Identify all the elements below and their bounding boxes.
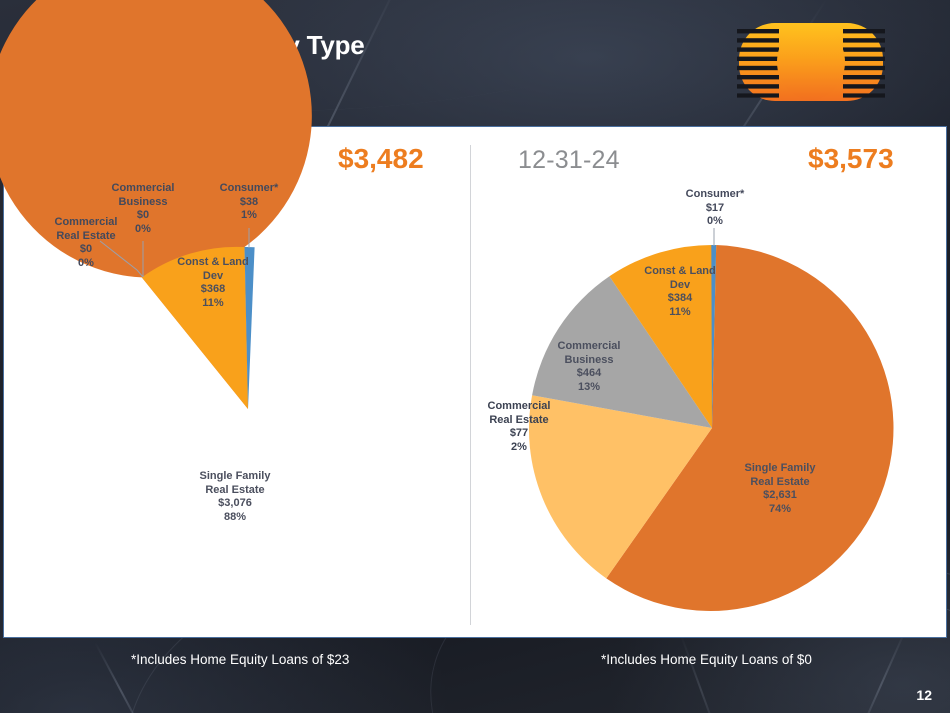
label-value: $464	[577, 367, 601, 379]
label-single-family-left: Single Family Real Estate $3,076 88%	[190, 470, 280, 524]
label-name-2: Dev	[203, 270, 223, 282]
label-name: Const & Land	[177, 256, 249, 268]
label-name: Commercial	[112, 182, 175, 194]
subtitle-line-1: Gross Loans	[69, 75, 143, 90]
label-commercial-business-right: Commercial Business $464 13%	[545, 340, 633, 394]
label-percent: 11%	[202, 297, 223, 309]
label-consumer-left: Consumer* $38 1%	[206, 182, 292, 223]
label-consumer-right: Consumer* $17 0%	[672, 188, 758, 229]
left-footnote: *Includes Home Equity Loans of $23	[131, 652, 349, 667]
background-streak	[680, 633, 723, 713]
label-percent: 1%	[241, 209, 257, 221]
left-chart-date: 03-31-25	[66, 146, 168, 175]
label-percent: 0%	[78, 257, 94, 269]
label-name: Consumer*	[686, 188, 745, 200]
label-name: Single Family	[745, 462, 816, 474]
subtitle-line-2: [in thousands]	[69, 91, 150, 107]
label-const-land-dev-left: Const & Land Dev $368 11%	[169, 256, 257, 310]
label-commercial-business-left: Commercial Business $0 0%	[99, 182, 187, 236]
label-name-2: Real Estate	[489, 414, 548, 426]
left-chart-total: $3,482	[338, 143, 424, 175]
label-name-2: Business	[565, 354, 614, 366]
label-name-2: Real Estate	[205, 484, 264, 496]
background-streak	[854, 625, 909, 713]
label-name: Const & Land	[644, 265, 716, 277]
label-single-family-right: Single Family Real Estate $2,631 74%	[735, 462, 825, 516]
right-chart-total: $3,573	[808, 143, 894, 175]
label-value: $17	[706, 202, 724, 214]
label-percent: 74%	[769, 503, 791, 515]
sun-stripes-logo-icon	[737, 19, 885, 105]
label-value: $2,631	[763, 489, 797, 501]
label-name-2: Business	[119, 196, 168, 208]
label-value: $0	[80, 243, 92, 255]
label-percent: 13%	[578, 381, 600, 393]
label-percent: 0%	[135, 223, 151, 235]
slide-canvas: Non-performing by Type Gross Loans [in t…	[0, 0, 950, 713]
label-name: Commercial	[488, 400, 551, 412]
right-chart-date: 12-31-24	[518, 146, 620, 175]
sun-stripes-logo	[737, 19, 885, 105]
label-percent: 0%	[707, 215, 723, 227]
label-value: $0	[137, 209, 149, 221]
label-name: Consumer*	[220, 182, 279, 194]
label-value: $38	[240, 196, 258, 208]
label-percent: 11%	[669, 306, 690, 318]
label-commercial-real-estate-right: Commercial Real Estate $77 2%	[476, 400, 562, 454]
label-value: $384	[668, 292, 692, 304]
right-footnote: *Includes Home Equity Loans of $0	[601, 652, 812, 667]
label-value: $77	[510, 427, 528, 439]
slide-subtitle: Gross Loans [in thousands]	[69, 75, 150, 107]
panel-divider	[470, 145, 471, 625]
label-percent: 2%	[511, 441, 527, 453]
label-percent: 88%	[224, 511, 246, 523]
label-name: Commercial	[558, 340, 621, 352]
label-name-2: Real Estate	[750, 476, 809, 488]
slide-title: Non-performing by Type	[69, 30, 365, 61]
label-name-2: Dev	[670, 279, 690, 291]
page-number: 12	[916, 687, 932, 703]
label-value: $3,076	[218, 497, 252, 509]
label-name: Single Family	[200, 470, 271, 482]
label-const-land-dev-right: Const & Land Dev $384 11%	[636, 265, 724, 319]
label-value: $368	[201, 283, 225, 295]
